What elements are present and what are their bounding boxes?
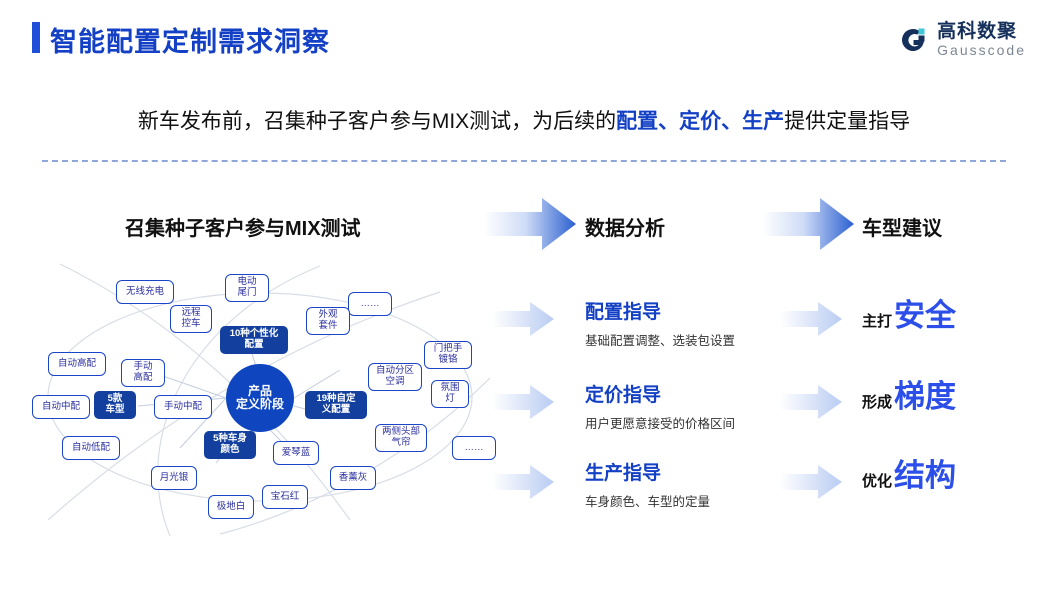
mindmap-node: 自动低配 (62, 436, 120, 460)
mindmap-node: 手动中配 (154, 395, 212, 419)
analysis-row: 定价指导 用户更愿意接受的价格区间 (585, 380, 735, 432)
subtitle-highlight: 配置、定价、生产 (616, 110, 784, 133)
mindmap-node: …… (452, 436, 496, 460)
row-arrow-icon (780, 465, 842, 499)
mindmap-center-node: 产品 定义阶段 (226, 364, 294, 432)
logo-english-name: Gausscode (937, 43, 1026, 57)
mindmap-node: 无线充电 (116, 280, 174, 304)
mindmap-node: 宝石红 (262, 485, 308, 509)
row-arrow-icon (492, 465, 554, 499)
analysis-desc: 基础配置调整、选装包设置 (585, 330, 735, 349)
mindmap-node: 自动分区 空调 (368, 363, 422, 391)
advice-keyword: 结构 (894, 460, 956, 491)
page-title: 智能配置定制需求洞察 (50, 20, 330, 59)
mindmap-node: 两侧头部 气帘 (375, 424, 427, 452)
analysis-title: 定价指导 (585, 380, 735, 407)
mindmap-node: 手动 高配 (121, 359, 165, 387)
mindmap-node: 爱琴蓝 (273, 441, 319, 465)
mindmap-center-label: 产品 定义阶段 (236, 385, 284, 412)
mindmap-node: 外观 套件 (306, 307, 350, 335)
column-header-left: 召集种子客户参与MIX测试 (125, 212, 361, 241)
logo-chinese-name: 高科数聚 (937, 22, 1026, 41)
row-arrow-icon (492, 302, 554, 336)
brand-logo: 高科数聚 Gausscode (896, 22, 1026, 57)
mindmap-node: 电动 尾门 (225, 274, 269, 302)
row-arrow-icon (780, 302, 842, 336)
analysis-title: 生产指导 (585, 458, 710, 485)
mindmap-node: 远程 控车 (170, 305, 212, 333)
advice-keyword: 梯度 (894, 381, 956, 412)
advice-prefix: 主打 (862, 310, 892, 331)
subtitle-part2: 提供定量指导 (784, 110, 910, 133)
analysis-desc: 用户更愿意接受的价格区间 (585, 413, 735, 432)
mindmap-node: 5种车身 颜色 (204, 431, 256, 459)
advice-keyword: 安全 (894, 300, 956, 331)
mindmap-node: 自动高配 (48, 352, 106, 376)
row-arrow-icon (492, 385, 554, 419)
advice-row: 主打 安全 (862, 300, 956, 331)
page-header: 智能配置定制需求洞察 高科数聚 Gausscode (0, 0, 1048, 78)
mindmap-node: 19种自定 义配置 (305, 391, 367, 419)
flow-arrow-icon (484, 198, 576, 250)
advice-prefix: 优化 (862, 470, 892, 491)
mindmap-node: 自动中配 (32, 395, 90, 419)
gausscode-g-mark-icon (896, 23, 930, 57)
subtitle: 新车发布前，召集种子客户参与MIX测试，为后续的配置、定价、生产提供定量指导 (0, 105, 1048, 135)
column-header-right: 车型建议 (862, 212, 942, 241)
mindmap-diagram: 产品 定义阶段 无线充电电动 尾门……远程 控车外观 套件10种个性化 配置自动… (20, 258, 500, 536)
advice-row: 形成 梯度 (862, 381, 956, 412)
section-divider (42, 160, 1006, 162)
analysis-desc: 车身颜色、车型的定量 (585, 491, 710, 510)
mindmap-node: 香薰灰 (330, 466, 376, 490)
mindmap-node: 极地白 (208, 495, 254, 519)
analysis-title: 配置指导 (585, 297, 735, 324)
mindmap-node: 10种个性化 配置 (220, 326, 288, 354)
row-arrow-icon (780, 385, 842, 419)
mindmap-node: …… (348, 292, 392, 316)
subtitle-part1: 新车发布前，召集种子客户参与MIX测试，为后续的 (138, 110, 616, 133)
flow-arrow-icon (762, 198, 854, 250)
mindmap-node: 5款 车型 (94, 391, 136, 419)
advice-prefix: 形成 (862, 391, 892, 412)
advice-row: 优化 结构 (862, 460, 956, 491)
analysis-row: 生产指导 车身颜色、车型的定量 (585, 458, 710, 510)
title-accent-bar (32, 22, 40, 53)
column-header-middle: 数据分析 (585, 212, 665, 241)
analysis-row: 配置指导 基础配置调整、选装包设置 (585, 297, 735, 349)
mindmap-node: 氛围 灯 (431, 380, 469, 408)
mindmap-node: 门把手 镀铬 (424, 341, 472, 369)
mindmap-node: 月光银 (151, 466, 197, 490)
